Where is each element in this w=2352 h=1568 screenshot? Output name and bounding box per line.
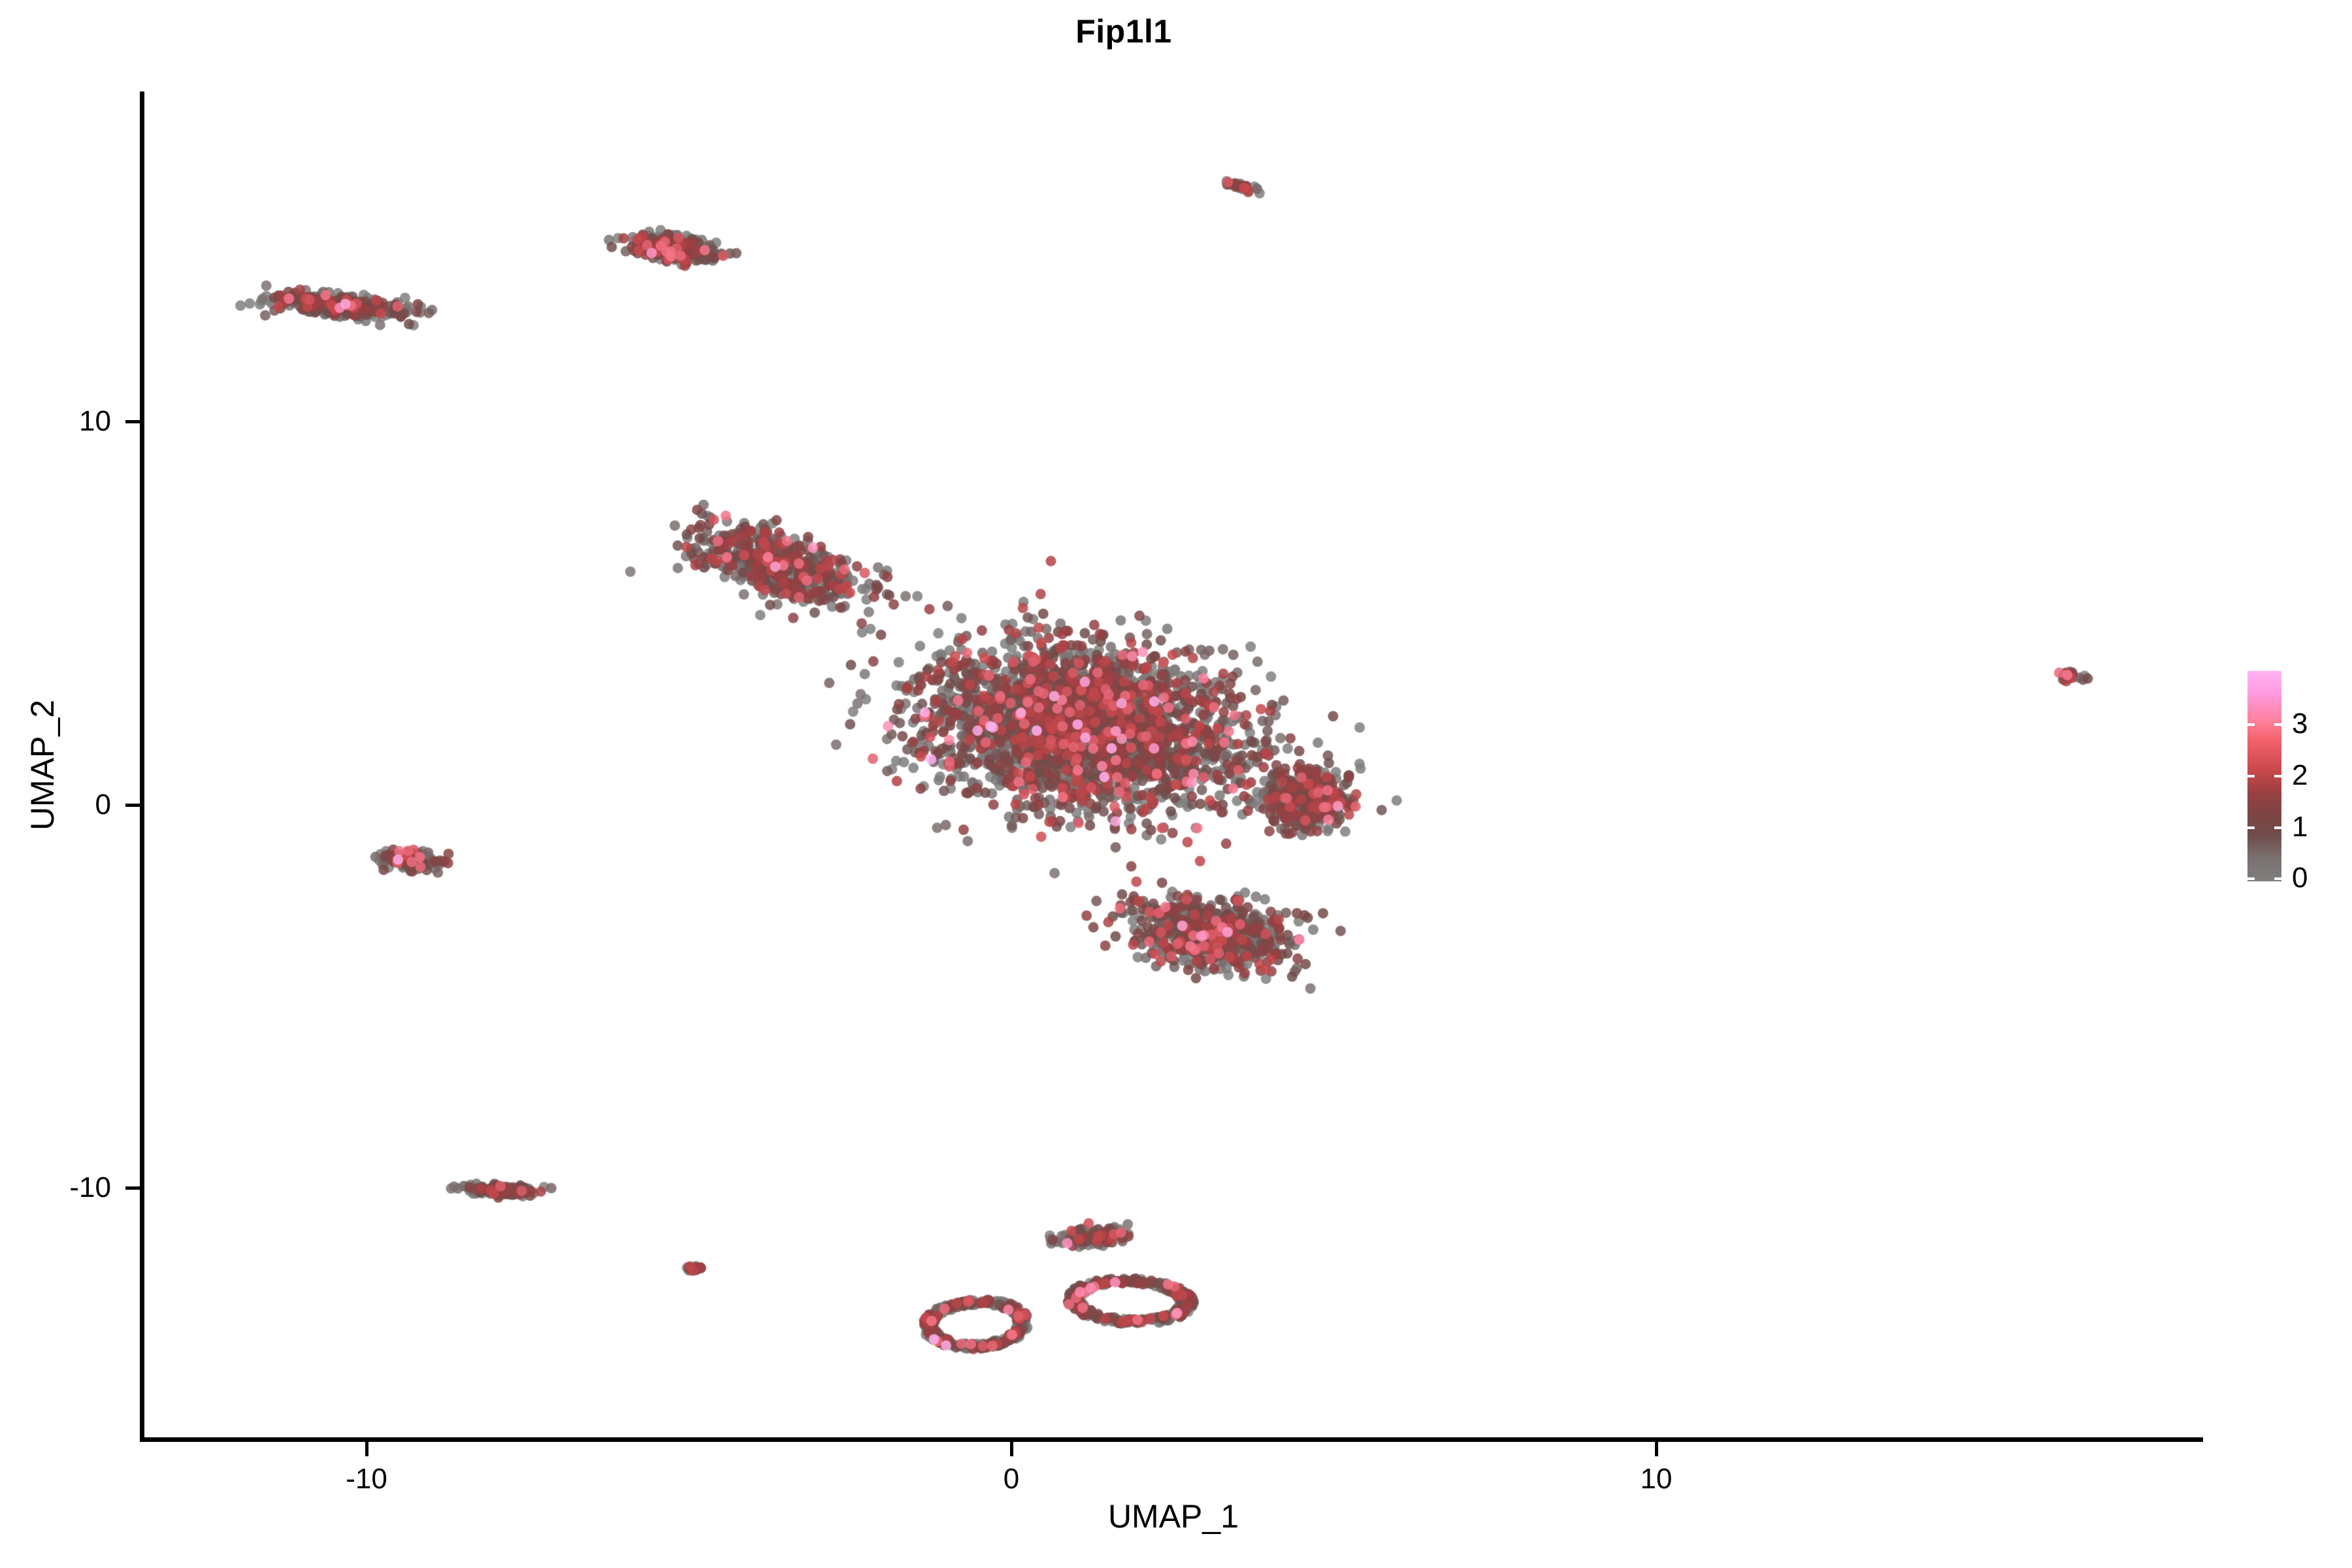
colorbar-tick-3b bbox=[2274, 723, 2281, 726]
colorbar-tick-0 bbox=[2247, 877, 2255, 880]
x-axis-title: UMAP_1 bbox=[144, 1497, 2203, 1535]
x-axis-line bbox=[140, 1437, 2203, 1442]
x-tick--10 bbox=[365, 1442, 368, 1456]
x-ticklabel-0: 0 bbox=[913, 1465, 1109, 1494]
x-ticklabel-10: 10 bbox=[1558, 1465, 1754, 1494]
legend-colorbar: 3 2 1 0 bbox=[2247, 671, 2339, 881]
y-tick-0 bbox=[125, 804, 140, 807]
scatter-canvas bbox=[144, 91, 2203, 1439]
x-tick-10 bbox=[1655, 1442, 1658, 1456]
colorbar-tick-2 bbox=[2247, 775, 2255, 777]
y-ticklabel--10: -10 bbox=[13, 1173, 111, 1202]
colorbar-tick-3 bbox=[2247, 723, 2255, 726]
umap-feature-plot: Fip1l1 10 0 -10 -10 0 10 UMAP_1 UMAP_2 3… bbox=[0, 0, 2352, 1568]
y-axis-line bbox=[140, 91, 144, 1441]
colorbar-tick-1 bbox=[2247, 826, 2255, 829]
y-tick--10 bbox=[125, 1186, 140, 1190]
x-tick-0 bbox=[1010, 1442, 1013, 1456]
colorbar-tick-0b bbox=[2274, 877, 2281, 880]
plot-panel bbox=[144, 91, 2203, 1439]
page-title: Fip1l1 bbox=[0, 5, 2247, 57]
y-axis-title: UMAP_2 bbox=[24, 373, 61, 1157]
y-tick-10 bbox=[125, 420, 140, 423]
colorbar-label-1: 1 bbox=[2292, 813, 2308, 841]
colorbar-tick-2b bbox=[2274, 775, 2281, 777]
colorbar-tick-1b bbox=[2274, 826, 2281, 829]
colorbar-label-2: 2 bbox=[2292, 761, 2308, 790]
colorbar-label-3: 3 bbox=[2292, 710, 2308, 738]
colorbar-label-0: 0 bbox=[2292, 864, 2308, 892]
x-ticklabel--10: -10 bbox=[269, 1465, 465, 1494]
